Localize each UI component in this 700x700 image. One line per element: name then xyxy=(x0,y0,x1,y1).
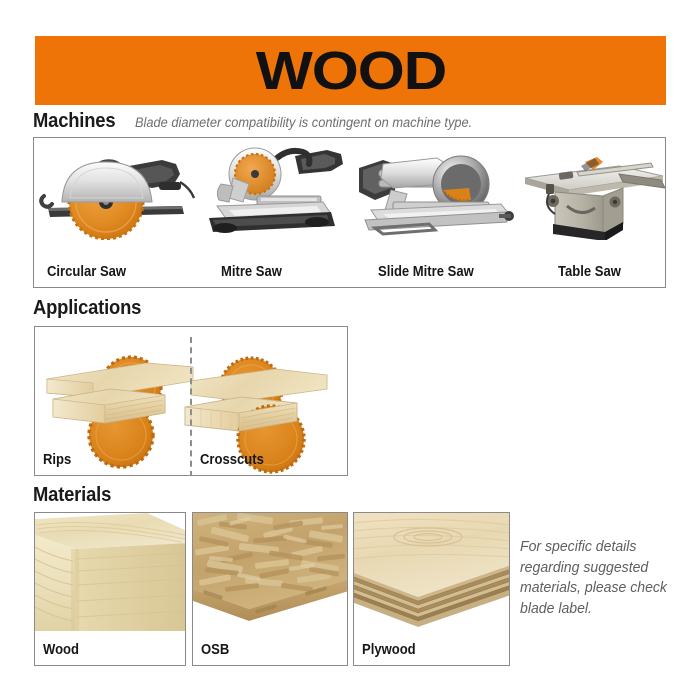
osb-board-swatch xyxy=(193,513,347,631)
machines-note: Blade diameter compatibility is continge… xyxy=(135,115,472,130)
mitre-saw-icon xyxy=(199,144,349,236)
materials-side-note: For specific details regarding suggested… xyxy=(520,537,675,619)
slide-mitre-saw-icon xyxy=(349,144,519,236)
plywood-sheet-swatch xyxy=(354,513,509,631)
machine-item-slide-mitre-saw[interactable]: Slide Mitre Saw xyxy=(349,138,519,287)
material-item-plywood[interactable]: Plywood xyxy=(353,512,510,666)
materials-section-header: Materials xyxy=(33,484,118,507)
material-label: Wood xyxy=(43,642,79,658)
machines-row: Circular Saw xyxy=(34,138,665,287)
machine-label: Mitre Saw xyxy=(221,264,282,280)
solid-wood-swatch xyxy=(35,513,185,631)
materials-title: Materials xyxy=(33,484,111,507)
machine-item-mitre-saw[interactable]: Mitre Saw xyxy=(199,138,349,287)
applications-panel: Rips Crosscuts xyxy=(34,326,348,476)
material-item-wood[interactable]: Wood xyxy=(34,512,186,666)
machines-section-header: Machines Blade diameter compatibility is… xyxy=(33,110,490,133)
application-label-rips: Rips xyxy=(43,452,71,468)
table-saw-icon xyxy=(519,144,666,236)
page-header-banner: WOOD xyxy=(35,36,666,105)
machines-title: Machines xyxy=(33,110,115,133)
applications-divider xyxy=(190,337,192,476)
machine-label: Table Saw xyxy=(558,264,621,280)
machine-label: Slide Mitre Saw xyxy=(378,264,474,280)
circular-saw-icon xyxy=(34,144,199,236)
material-label: Plywood xyxy=(362,642,416,658)
material-label: OSB xyxy=(201,642,229,658)
machine-item-table-saw[interactable]: Table Saw xyxy=(519,138,666,287)
application-label-crosscuts: Crosscuts xyxy=(200,452,264,468)
machine-item-circular-saw[interactable]: Circular Saw xyxy=(34,138,199,287)
machine-label: Circular Saw xyxy=(47,264,126,280)
applications-section-header: Applications xyxy=(33,297,151,320)
machines-panel: Circular Saw xyxy=(33,137,666,288)
applications-title: Applications xyxy=(33,297,141,320)
page-title: WOOD xyxy=(255,44,445,98)
material-item-osb[interactable]: OSB xyxy=(192,512,348,666)
